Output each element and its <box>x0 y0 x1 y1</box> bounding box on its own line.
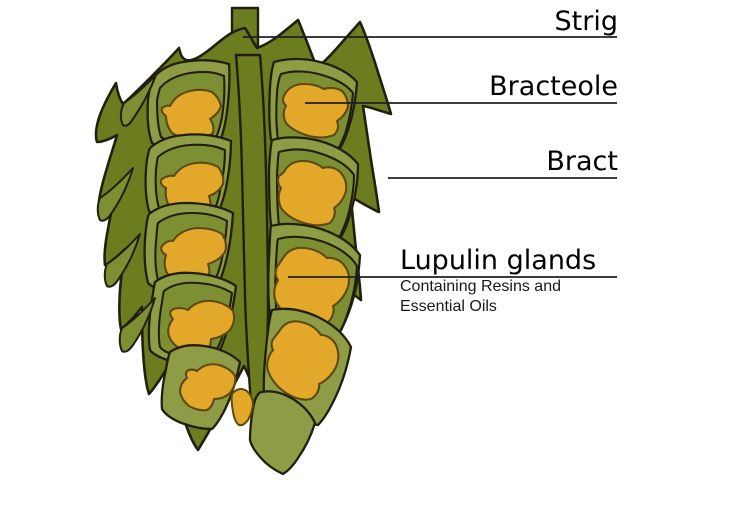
lupulin-gland-right-1 <box>283 84 348 137</box>
label-bract: Bract <box>430 148 618 175</box>
cone-body <box>96 8 391 474</box>
label-lupulin-glands: Lupulin glands Containing Resins and Ess… <box>400 247 618 318</box>
lupulin-gland-lower-center <box>232 389 253 425</box>
label-bract-title: Bract <box>430 148 618 175</box>
hop-cone-illustration <box>0 0 730 512</box>
label-bracteole-title: Bracteole <box>430 73 618 100</box>
label-strig: Strig <box>430 8 618 35</box>
label-lupulin-subtitle-line-1: Containing Resins and <box>400 277 618 297</box>
label-strig-title: Strig <box>430 8 618 35</box>
label-bracteole: Bracteole <box>430 73 618 100</box>
label-lupulin-title: Lupulin glands <box>400 247 618 274</box>
label-lupulin-subtitle-line-2: Essential Oils <box>400 297 618 317</box>
hop-cone-diagram: Strig Bracteole Bract Lupulin glands Con… <box>0 0 730 512</box>
